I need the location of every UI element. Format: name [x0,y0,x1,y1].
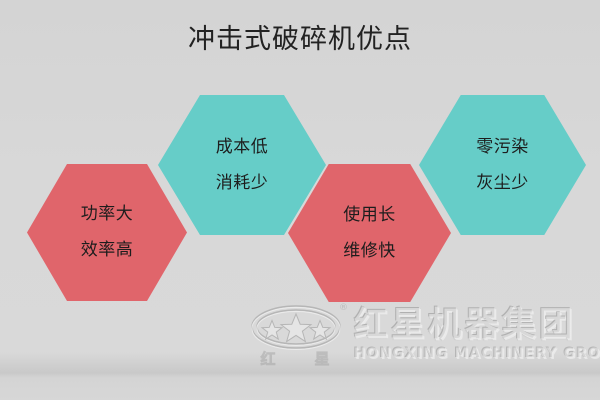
page-title: 冲击式破碎机优点 [0,24,600,56]
hexagon-line-2: 消耗少 [216,175,269,192]
svg-text:星: 星 [314,350,329,368]
hexagon-zero-pollution: 零污染 灰尘少 [419,95,586,235]
hexagon-line-2: 灰尘少 [476,175,529,192]
hexagon-line-1: 成本低 [216,139,269,156]
svg-text:®: ® [339,303,348,313]
watermark-company-cn: 红星机器集团 [354,306,600,344]
hexagon-line-2: 维修快 [343,243,396,260]
hexagon-line-1: 功率大 [81,206,134,223]
watermark: ® 红 星 红星机器集团 HONGXING MACHINERY GROUP [248,296,592,372]
watermark-text: 红星机器集团 HONGXING MACHINERY GROUP [354,306,600,362]
infographic-canvas: 冲击式破碎机优点 功率大 效率高 成本低 消耗少 使用长 维修快 零污染 灰尘少 [0,0,600,400]
hexagon-line-2: 效率高 [81,242,134,259]
svg-text:红: 红 [260,350,275,368]
hexagon-power-efficiency: 功率大 效率高 [27,164,187,301]
hongxing-logo-icon: ® 红 星 [248,298,348,370]
hexagon-line-1: 使用长 [343,207,396,224]
watermark-company-en: HONGXING MACHINERY GROUP [354,346,600,362]
hexagon-line-1: 零污染 [476,139,529,156]
